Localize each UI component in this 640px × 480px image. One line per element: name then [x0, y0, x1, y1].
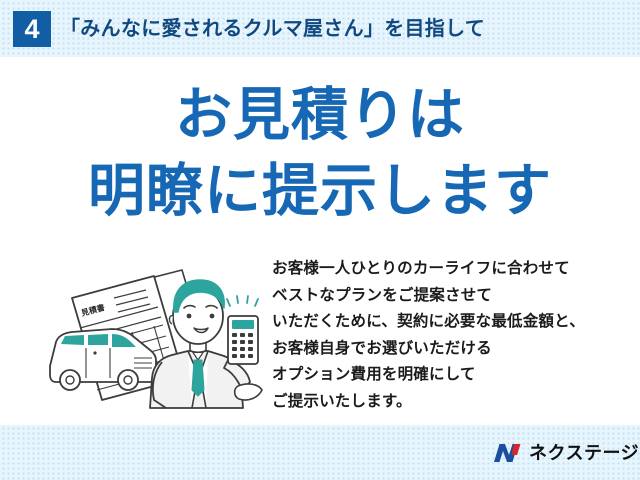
calculator-icon [228, 316, 258, 364]
headline-line-1: お見積りは [0, 84, 640, 146]
nextage-n-logo-icon [493, 441, 523, 465]
brand-logo-text: ネクステージ [529, 441, 639, 465]
promo-slide: 4 「みんなに愛されるクルマ屋さん」を目指して お見積りは 明瞭に提示します お… [0, 0, 640, 480]
body-paragraph: お客様一人ひとりのカーライフに合わせて ベストなプランをご提案させて いただくた… [272, 256, 622, 415]
illustration-salesman-quote-van: 見積書 [42, 258, 272, 420]
brand-logo: ネクステージ [493, 440, 639, 466]
section-number-badge: 4 [13, 11, 51, 47]
header-title: 「みんなに愛されるクルマ屋さん」を目指して [60, 13, 485, 45]
sparkle-icon [227, 296, 258, 306]
headline-line-2: 明瞭に提示します [0, 160, 640, 222]
